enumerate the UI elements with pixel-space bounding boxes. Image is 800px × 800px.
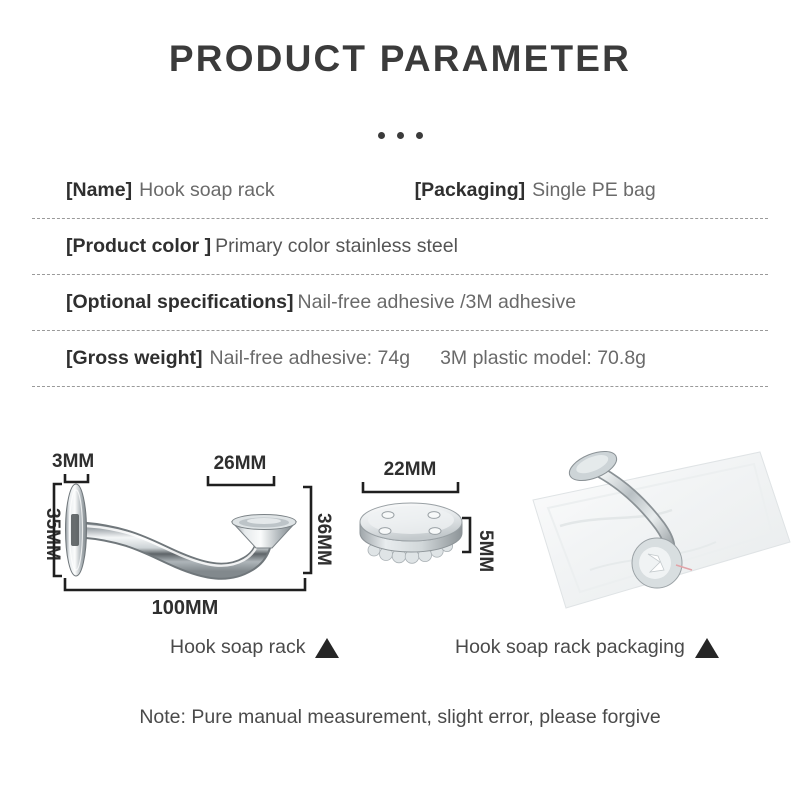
page-title: PRODUCT PARAMETER — [0, 38, 800, 80]
caption-hook-label: Hook soap rack — [170, 636, 305, 659]
dimension-label-cone-width: 26MM — [214, 453, 267, 474]
dimension-bracket-disc-thickness — [462, 518, 470, 552]
packaging-figure — [533, 446, 790, 608]
spec-value: Primary color stainless steel — [215, 235, 458, 258]
spec-key: [Packaging] — [415, 179, 526, 202]
spec-key: [Optional specifications] — [66, 291, 294, 314]
spec-cell-packaging: [Packaging] Single PE bag — [275, 179, 656, 202]
caption-packaging: Hook soap rack packaging — [455, 636, 719, 659]
hook-cone-top-gloss — [247, 518, 281, 524]
spec-key: [Product color ] — [66, 235, 211, 258]
dimension-label-thickness: 3MM — [52, 451, 94, 472]
separator-dot — [378, 132, 385, 139]
table-row: [Product color ] Primary color stainless… — [32, 219, 768, 275]
table-row: [Name] Hook soap rack [Packaging] Single… — [32, 163, 768, 219]
spec-value-secondary: 3M plastic model: 70.8g — [440, 347, 646, 370]
spec-table: [Name] Hook soap rack [Packaging] Single… — [32, 163, 768, 387]
triangle-up-icon — [695, 638, 719, 658]
dimension-bracket-disc-diameter — [363, 482, 458, 492]
dimension-label-disc-diameter: 22MM — [384, 459, 437, 480]
dimension-bracket-thickness — [65, 474, 88, 482]
figures-row: 3MM 35MM 26MM 36MM 100MM — [0, 430, 800, 630]
dimension-label-plate-height: 35MM — [42, 508, 63, 561]
spec-value: Nail-free adhesive: 74g — [210, 347, 411, 370]
caption-hook: Hook soap rack — [170, 636, 339, 659]
product-dimension-figures: 3MM 35MM 26MM 36MM 100MM — [0, 430, 800, 630]
figure-captions: Hook soap rack Hook soap rack packaging — [0, 636, 800, 668]
dimension-bracket-cone-width — [208, 476, 274, 485]
separator-dot — [397, 132, 404, 139]
dimension-label-total-length: 100MM — [152, 597, 219, 619]
spec-value: Single PE bag — [532, 179, 656, 202]
disc-figure: 22MM 5MM — [360, 459, 496, 572]
table-row: [Optional specifications] Nail-free adhe… — [32, 275, 768, 331]
spec-cell-optional-specifications: [Optional specifications] Nail-free adhe… — [32, 291, 576, 314]
triangle-up-icon — [315, 638, 339, 658]
dimension-label-disc-thickness: 5MM — [475, 530, 496, 572]
spec-cell-gross-weight: [Gross weight] Nail-free adhesive: 74g 3… — [32, 347, 646, 370]
dimension-bracket-hook-height — [303, 487, 311, 573]
dimension-label-hook-height: 36MM — [313, 513, 334, 566]
spec-key: [Gross weight] — [66, 347, 203, 370]
footer-note: Note: Pure manual measurement, slight er… — [0, 706, 800, 729]
spec-cell-name: [Name] Hook soap rack — [32, 179, 275, 202]
hook-plate-shadow — [71, 514, 79, 546]
spec-cell-product-color: [Product color ] Primary color stainless… — [32, 235, 458, 258]
table-row: [Gross weight] Nail-free adhesive: 74g 3… — [32, 331, 768, 387]
packaged-hook-cone-inner — [639, 547, 671, 579]
dimension-bracket-total-length — [65, 578, 305, 590]
separator-dot — [416, 132, 423, 139]
spec-value: Hook soap rack — [139, 179, 274, 202]
caption-packaging-label: Hook soap rack packaging — [455, 636, 685, 659]
spec-key: [Name] — [66, 179, 132, 202]
dots-separator — [0, 132, 800, 139]
hook-figure: 3MM 35MM 26MM 36MM 100MM — [42, 451, 334, 619]
spec-value: Nail-free adhesive /3M adhesive — [298, 291, 577, 314]
